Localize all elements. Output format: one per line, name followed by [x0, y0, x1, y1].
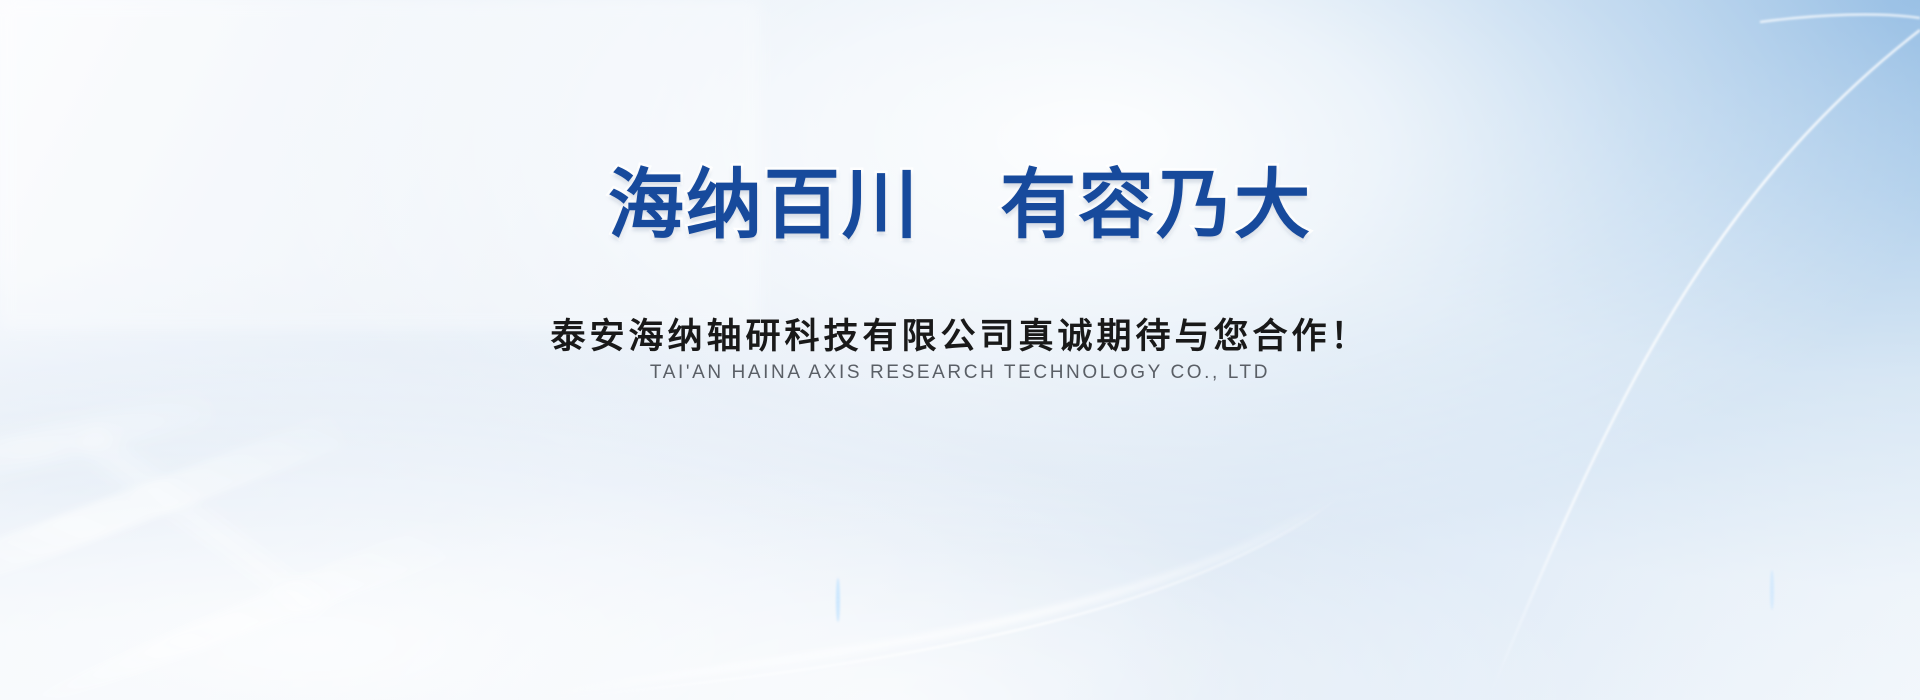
- headline-part-2: 有容乃大: [1000, 163, 1312, 248]
- subtitle-chinese: 泰安海纳轴研科技有限公司真诚期待与您合作！: [0, 308, 1920, 359]
- subtitle-english: TAI'AN HAINA AXIS RESEARCH TECHNOLOGY CO…: [0, 362, 1920, 384]
- banner-content: 海纳百川 有容乃大 泰安海纳轴研科技有限公司真诚期待与您合作！ TAI'AN H…: [0, 0, 1920, 700]
- hero-banner: 海纳百川 有容乃大 泰安海纳轴研科技有限公司真诚期待与您合作！ TAI'AN H…: [0, 0, 1920, 700]
- page-title: 海纳百川 有容乃大: [0, 166, 1920, 246]
- headline-part-1: 海纳百川: [608, 163, 920, 248]
